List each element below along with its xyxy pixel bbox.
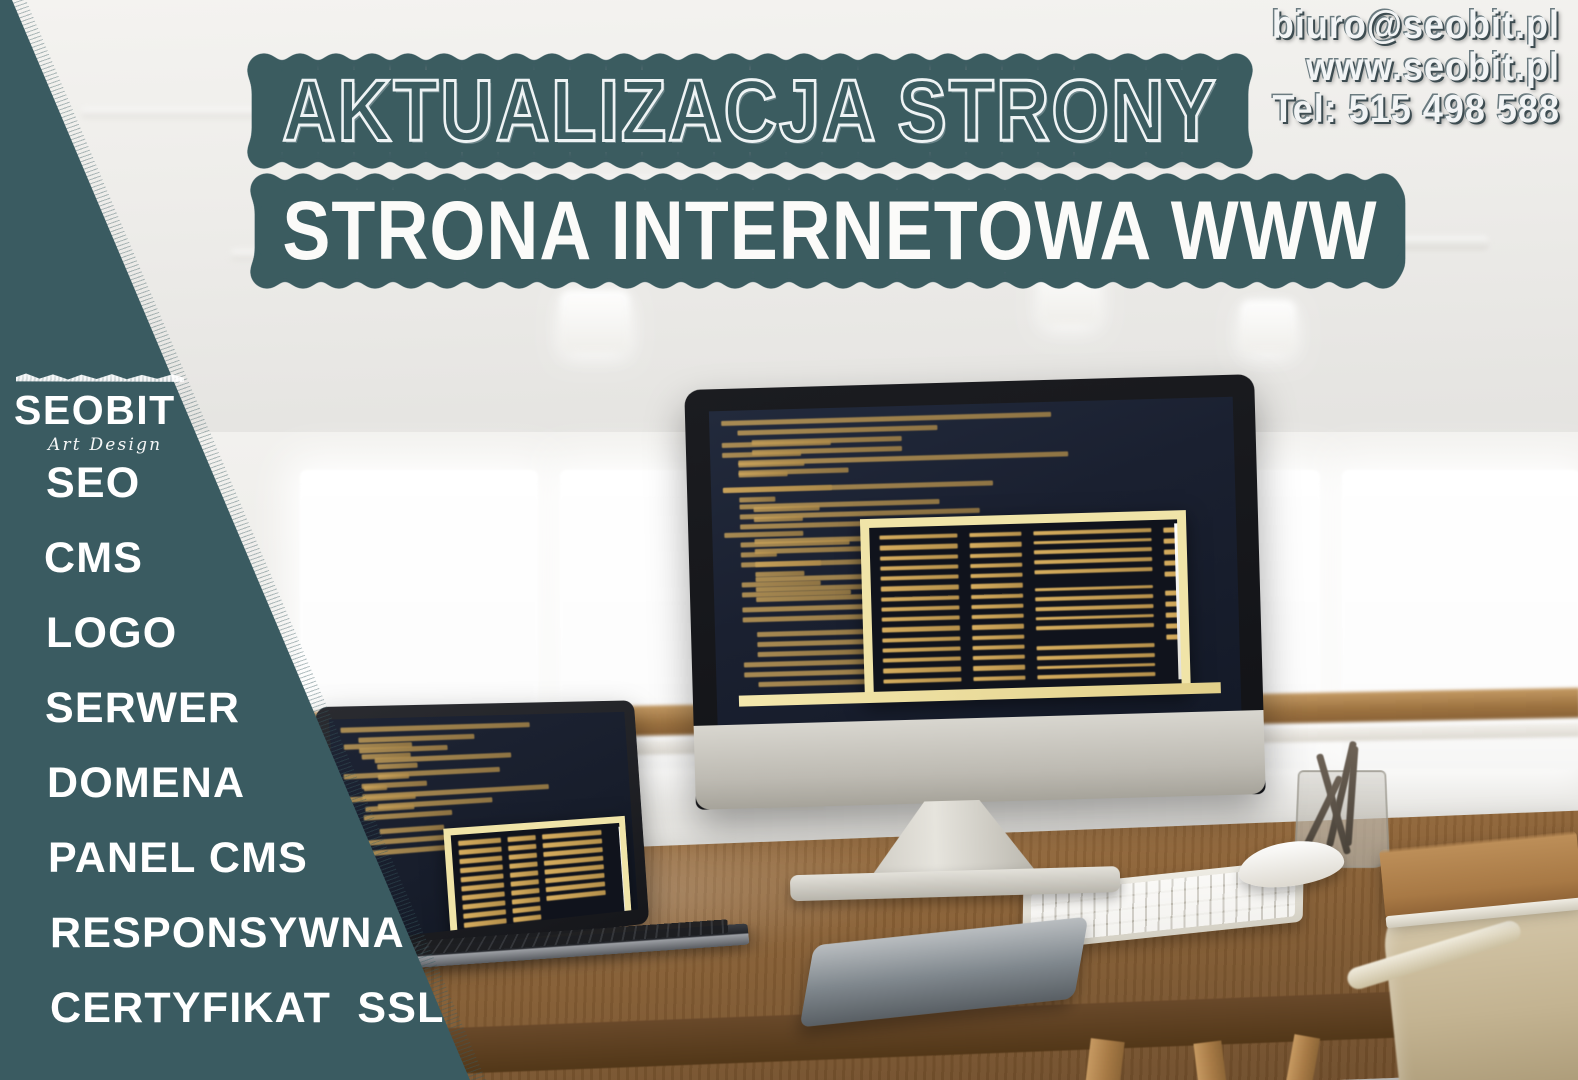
service-item-responsywna: RESPONSYWNA (0, 912, 470, 955)
headline-band-secondary: STRONA INTERNETOWA WWW (255, 190, 1405, 272)
poster-canvas: SEOBIT Art Design SEO CMS LOGO SERWER DO… (0, 0, 1578, 1080)
contact-website[interactable]: www.seobit.pl (1272, 44, 1560, 89)
logo: SEOBIT Art Design (14, 372, 204, 455)
data-column (507, 835, 541, 922)
brush-stroke-icon (16, 372, 184, 384)
service-item-cms: CMS (0, 537, 470, 580)
monitor-chin (694, 710, 1266, 810)
headline-line-1: AKTUALIZACJA STRONY (260, 67, 1240, 154)
logo-name: SEOBIT (14, 390, 204, 431)
ceiling-light (1240, 300, 1296, 352)
service-item-domena: DOMENA (0, 762, 470, 805)
service-list: SEO CMS LOGO SERWER DOMENA PANEL CMS RES… (0, 462, 470, 1062)
data-column (969, 532, 1025, 681)
desktop-monitor (684, 374, 1266, 810)
data-column (1033, 528, 1155, 679)
service-item-logo: LOGO (0, 612, 470, 655)
data-column (542, 830, 607, 919)
desk-leg (1193, 1040, 1226, 1080)
headline-band-primary: AKTUALIZACJA STRONY (252, 70, 1248, 152)
monitor-screen (709, 397, 1242, 726)
headline-line-2: STRONA INTERNETOWA WWW (258, 189, 1401, 273)
contact-email[interactable]: biuro@seobit.pl (1272, 2, 1560, 47)
highlighted-data-panel (860, 510, 1191, 701)
contact-block: biuro@seobit.pl www.seobit.pl Tel: 515 4… (1272, 4, 1560, 129)
contact-phone[interactable]: Tel: 515 498 588 (1272, 86, 1560, 131)
ceiling-light (560, 290, 630, 352)
service-item-panel-cms: PANEL CMS (0, 837, 470, 880)
service-item-certyfikat-ssl: CERTYFIKAT SSL (0, 987, 470, 1030)
logo-tagline: Art Design (48, 435, 204, 455)
service-item-serwer: SERWER (0, 687, 470, 730)
laptop-highlighted-panel (443, 816, 632, 943)
desk-leg (1085, 1038, 1124, 1080)
data-column (879, 533, 961, 683)
service-item-seo: SEO (0, 462, 470, 505)
